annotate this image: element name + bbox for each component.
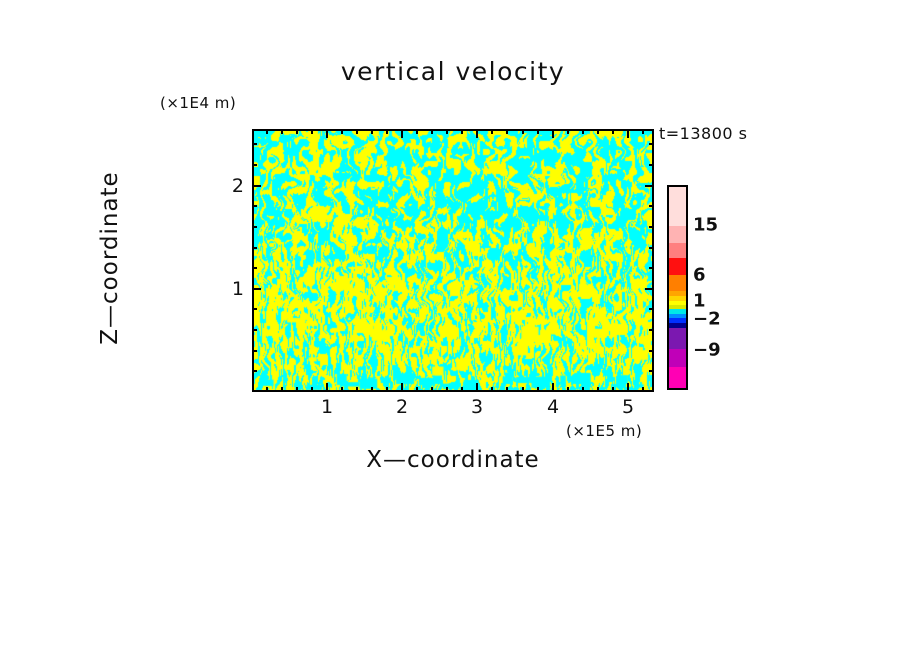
- x-tick-label: 1: [321, 396, 333, 418]
- x-tick-minor: [446, 387, 448, 392]
- x-tick-minor: [506, 387, 508, 392]
- x-tick-major-top: [476, 129, 478, 138]
- colorbar-tick-label: 6: [693, 265, 706, 286]
- y-axis-unit-label: (×1E4 m): [160, 94, 236, 112]
- y-tick-minor-right: [649, 267, 654, 269]
- x-tick-label: 2: [396, 396, 408, 418]
- x-tick-minor-top: [386, 129, 388, 134]
- y-tick-major: [252, 185, 261, 187]
- x-tick-major: [627, 383, 629, 392]
- x-tick-major: [326, 383, 328, 392]
- x-tick-minor: [597, 387, 599, 392]
- x-tick-minor: [582, 387, 584, 392]
- x-tick-minor-top: [371, 129, 373, 134]
- x-tick-minor: [296, 387, 298, 392]
- x-tick-minor: [281, 387, 283, 392]
- colorbar-band: [669, 258, 686, 276]
- x-tick-minor: [522, 387, 524, 392]
- x-tick-minor-top: [416, 129, 418, 134]
- y-tick-minor-right: [649, 143, 654, 145]
- y-tick-label: 2: [214, 175, 244, 197]
- colorbar-tick-label: −2: [693, 309, 721, 330]
- y-tick-major-right: [645, 288, 654, 290]
- y-tick-minor-right: [649, 329, 654, 331]
- x-tick-minor: [612, 387, 614, 392]
- x-tick-minor-top: [567, 129, 569, 134]
- x-tick-minor: [461, 387, 463, 392]
- x-tick-major: [552, 383, 554, 392]
- x-tick-minor-top: [537, 129, 539, 134]
- x-tick-minor: [491, 387, 493, 392]
- y-tick-minor: [252, 247, 257, 249]
- x-tick-minor: [311, 387, 313, 392]
- y-tick-minor-right: [649, 205, 654, 207]
- x-tick-major: [401, 383, 403, 392]
- y-tick-minor: [252, 164, 257, 166]
- x-tick-minor: [642, 387, 644, 392]
- x-tick-label: 4: [547, 396, 559, 418]
- x-tick-label: 5: [622, 396, 634, 418]
- x-tick-minor: [386, 387, 388, 392]
- x-tick-minor-top: [311, 129, 313, 134]
- x-tick-minor-top: [266, 129, 268, 134]
- y-tick-minor-right: [649, 350, 654, 352]
- page-title: vertical velocity: [252, 57, 654, 86]
- x-tick-minor: [356, 387, 358, 392]
- y-tick-minor-right: [649, 308, 654, 310]
- x-tick-minor-top: [506, 129, 508, 134]
- colorbar-band: [669, 226, 686, 244]
- x-tick-minor-top: [582, 129, 584, 134]
- y-tick-minor: [252, 143, 257, 145]
- y-tick-minor: [252, 370, 257, 372]
- x-tick-major-top: [401, 129, 403, 138]
- x-tick-minor-top: [461, 129, 463, 134]
- y-tick-minor-right: [649, 370, 654, 372]
- y-tick-major-right: [645, 185, 654, 187]
- y-tick-minor-right: [649, 226, 654, 228]
- x-tick-minor: [266, 387, 268, 392]
- colorbar-band: [669, 349, 686, 369]
- x-tick-minor: [416, 387, 418, 392]
- x-tick-minor: [431, 387, 433, 392]
- x-tick-minor-top: [356, 129, 358, 134]
- x-axis-title: X—coordinate: [252, 447, 654, 473]
- y-tick-minor: [252, 329, 257, 331]
- x-tick-minor-top: [522, 129, 524, 134]
- y-axis-title: Z—coordinate: [97, 128, 123, 388]
- x-axis-unit-label: (×1E5 m): [566, 422, 642, 440]
- x-tick-minor-top: [431, 129, 433, 134]
- colorbar-band: [669, 187, 686, 227]
- colorbar-tick-label: −9: [693, 339, 721, 360]
- heatmap-raster: [254, 131, 652, 390]
- colorbar-band: [669, 328, 686, 349]
- x-tick-minor-top: [341, 129, 343, 134]
- x-tick-minor: [341, 387, 343, 392]
- y-tick-label: 1: [214, 278, 244, 300]
- heatmap-plot-area: [252, 129, 654, 392]
- y-tick-minor: [252, 226, 257, 228]
- colorbar-band: [669, 367, 686, 388]
- colorbar: [667, 185, 688, 390]
- x-tick-major: [476, 383, 478, 392]
- x-tick-minor: [537, 387, 539, 392]
- y-tick-major: [252, 288, 261, 290]
- x-tick-major-top: [627, 129, 629, 138]
- y-tick-minor-right: [649, 164, 654, 166]
- y-tick-minor-right: [649, 247, 654, 249]
- x-tick-minor: [567, 387, 569, 392]
- x-tick-minor-top: [597, 129, 599, 134]
- timestamp-annotation: t=13800 s: [659, 124, 748, 143]
- x-tick-major-top: [326, 129, 328, 138]
- x-tick-minor-top: [281, 129, 283, 134]
- colorbar-tick-label: 15: [693, 215, 718, 236]
- x-tick-major-top: [552, 129, 554, 138]
- x-tick-minor-top: [491, 129, 493, 134]
- y-tick-minor: [252, 308, 257, 310]
- colorbar-band: [669, 243, 686, 259]
- y-tick-minor: [252, 267, 257, 269]
- x-tick-minor-top: [612, 129, 614, 134]
- colorbar-band: [669, 275, 686, 292]
- x-tick-minor-top: [642, 129, 644, 134]
- x-tick-minor-top: [296, 129, 298, 134]
- x-tick-minor-top: [446, 129, 448, 134]
- figure-canvas: vertical velocity (×1E4 m) (×1E5 m) t=13…: [0, 0, 904, 654]
- y-tick-minor: [252, 205, 257, 207]
- x-tick-label: 3: [471, 396, 483, 418]
- y-tick-minor: [252, 350, 257, 352]
- x-tick-minor: [371, 387, 373, 392]
